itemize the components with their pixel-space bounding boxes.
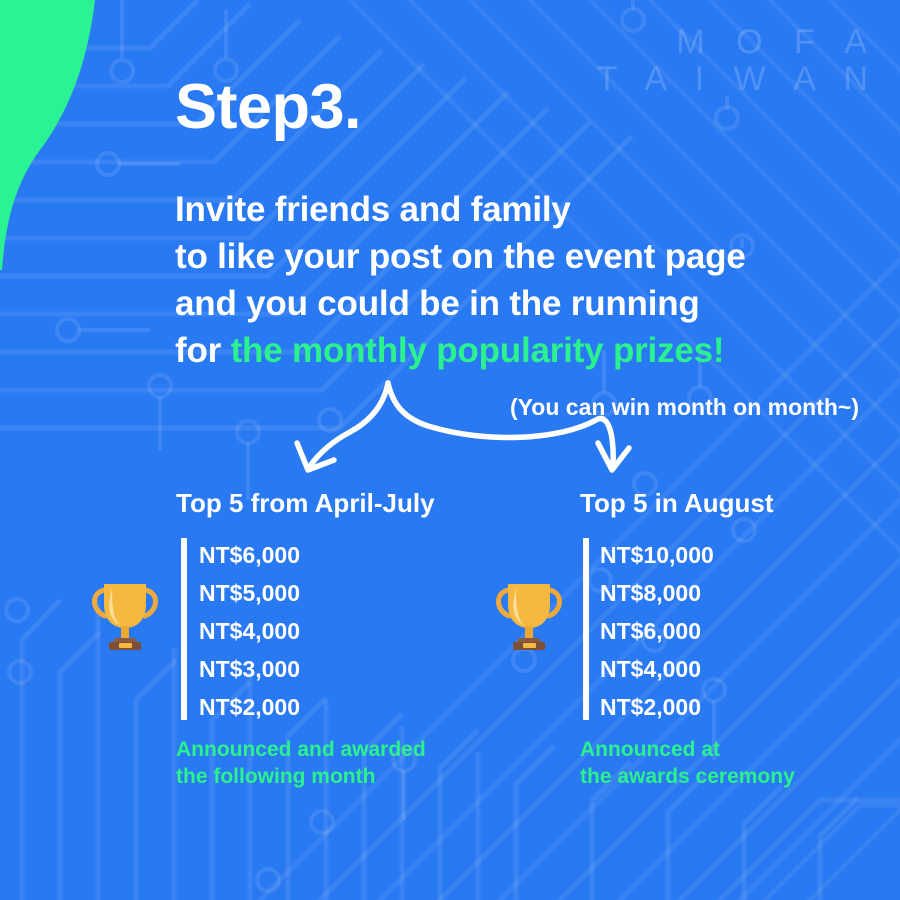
lede-line-1: Invite friends and family	[175, 186, 746, 233]
prize-item: NT$5,000	[199, 576, 459, 614]
footnote-right-line-2: the awards ceremony	[580, 763, 795, 790]
page-title: Step3.	[175, 76, 361, 139]
prize-item: NT$8,000	[600, 576, 860, 614]
prize-list-left: NT$6,000 NT$5,000 NT$4,000 NT$3,000 NT$2…	[199, 538, 459, 728]
lede-highlight: the monthly popularity prizes!	[231, 331, 725, 370]
footnote-right: Announced at the awards ceremony	[580, 736, 795, 790]
prize-divider-bar-left	[181, 538, 187, 720]
prize-item: NT$2,000	[600, 690, 860, 728]
lede-line-3: and you could be in the running	[175, 280, 746, 327]
prize-item: NT$3,000	[199, 652, 459, 690]
green-corner-shape	[0, 0, 160, 270]
lede-line-4-prefix: for	[175, 331, 231, 370]
column-heading-left: Top 5 from April-July	[176, 488, 435, 519]
prize-item: NT$6,000	[600, 614, 860, 652]
logo-line-mofa: M O F A	[597, 24, 878, 61]
trophy-icon	[85, 572, 165, 652]
footnote-left-line-1: Announced and awarded	[176, 736, 426, 763]
month-on-month-note: (You can win month on month~)	[510, 394, 859, 421]
trophy-icon	[489, 572, 569, 652]
column-heading-right: Top 5 in August	[580, 488, 774, 519]
lede-line-2: to like your post on the event page	[175, 233, 746, 280]
promo-poster: M O F A T A I W A N Step3. Invite friend…	[0, 0, 900, 900]
prize-item: NT$4,000	[600, 652, 860, 690]
lede-paragraph: Invite friends and family to like your p…	[175, 186, 746, 374]
prize-item: NT$10,000	[600, 538, 860, 576]
logo-line-taiwan: T A I W A N	[597, 61, 878, 98]
prize-list-right: NT$10,000 NT$8,000 NT$6,000 NT$4,000 NT$…	[600, 538, 860, 728]
footnote-left: Announced and awarded the following mont…	[176, 736, 426, 790]
prize-item: NT$4,000	[199, 614, 459, 652]
prize-divider-bar-right	[583, 538, 589, 720]
lede-line-4: for the monthly popularity prizes!	[175, 327, 746, 374]
prize-item: NT$6,000	[199, 538, 459, 576]
mofa-taiwan-logo: M O F A T A I W A N	[597, 24, 878, 97]
prize-item: NT$2,000	[199, 690, 459, 728]
footnote-left-line-2: the following month	[176, 763, 426, 790]
footnote-right-line-1: Announced at	[580, 736, 795, 763]
